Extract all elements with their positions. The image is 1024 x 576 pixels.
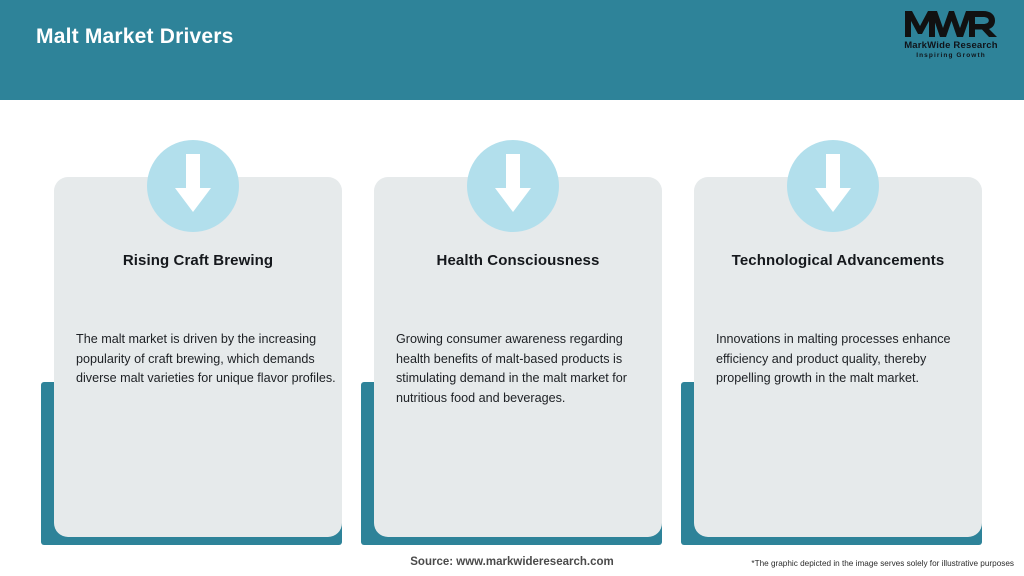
footer-disclaimer-text: *The graphic depicted in the image serve… <box>751 559 1014 568</box>
card-title: Technological Advancements <box>694 252 982 269</box>
down-arrow-icon <box>147 140 239 232</box>
logo-name: MarkWide Research <box>892 40 1010 51</box>
brand-logo: MarkWide Research Inspiring Growth <box>892 8 1010 64</box>
card-title: Health Consciousness <box>374 252 662 269</box>
mwr-logo-icon <box>903 8 999 39</box>
page-title: Malt Market Drivers <box>36 25 234 49</box>
card-title: Rising Craft Brewing <box>54 252 342 269</box>
down-arrow-icon <box>467 140 559 232</box>
card-description: Innovations in malting processes enhance… <box>716 330 978 389</box>
down-arrow-glyph <box>814 154 852 216</box>
down-arrow-icon <box>787 140 879 232</box>
logo-tagline: Inspiring Growth <box>892 51 1010 60</box>
header-bar: Malt Market Drivers MarkWide Research In… <box>0 0 1024 100</box>
card-description: The malt market is driven by the increas… <box>76 330 338 389</box>
card-description: Growing consumer awareness regarding hea… <box>396 330 658 408</box>
down-arrow-glyph <box>174 154 212 216</box>
down-arrow-glyph <box>494 154 532 216</box>
